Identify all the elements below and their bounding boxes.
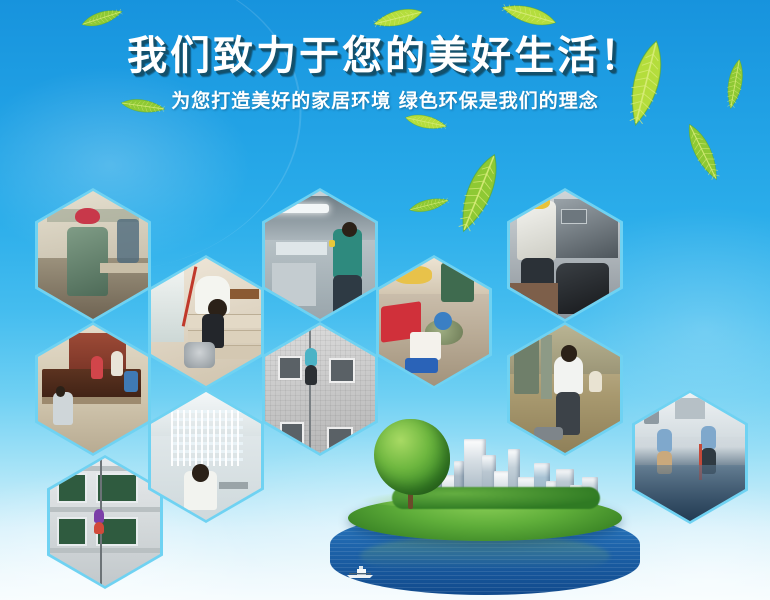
hex-tile-rooftop-squeegee[interactable] — [632, 390, 748, 524]
hex-photo — [151, 258, 261, 386]
leaf-mid-left-icon — [406, 191, 451, 219]
hex-photo — [50, 458, 160, 586]
headline-block: 我们致力于您的美好生活！ 为您打造美好的家居环境 绿色环保是我们的理念 — [0, 0, 770, 111]
hex-photo — [635, 393, 745, 521]
page-title: 我们致力于您的美好生活！ — [0, 0, 770, 76]
hex-tile-stair-mopping[interactable] — [148, 255, 264, 389]
hex-photo — [379, 258, 489, 386]
island-reflection — [360, 535, 610, 577]
page-subtitle: 为您打造美好的家居环境 绿色环保是我们的理念 — [0, 76, 770, 111]
hex-tile-exterior-rope-access[interactable] — [47, 455, 163, 589]
hex-tile-chandelier-cleaning[interactable] — [148, 389, 264, 523]
hex-tile-duct-cleaning[interactable] — [262, 188, 378, 322]
tree-crown — [374, 419, 450, 495]
boat-icon — [345, 566, 375, 579]
hex-photo — [151, 392, 261, 520]
hex-photo — [38, 325, 148, 453]
eco-city-island — [330, 415, 640, 595]
hex-tile-carpet-machine[interactable] — [376, 255, 492, 389]
leaf-mid-center-icon — [445, 146, 512, 240]
hex-photo — [265, 191, 375, 319]
hex-photo — [510, 191, 620, 319]
promo-banner: 我们致力于您的美好生活！ 为您打造美好的家居环境 绿色环保是我们的理念 — [0, 0, 770, 600]
hex-tile-railing-painting[interactable] — [35, 322, 151, 456]
leaf-upper-right-icon — [677, 118, 728, 187]
hex-tile-hood-degreasing[interactable] — [507, 188, 623, 322]
